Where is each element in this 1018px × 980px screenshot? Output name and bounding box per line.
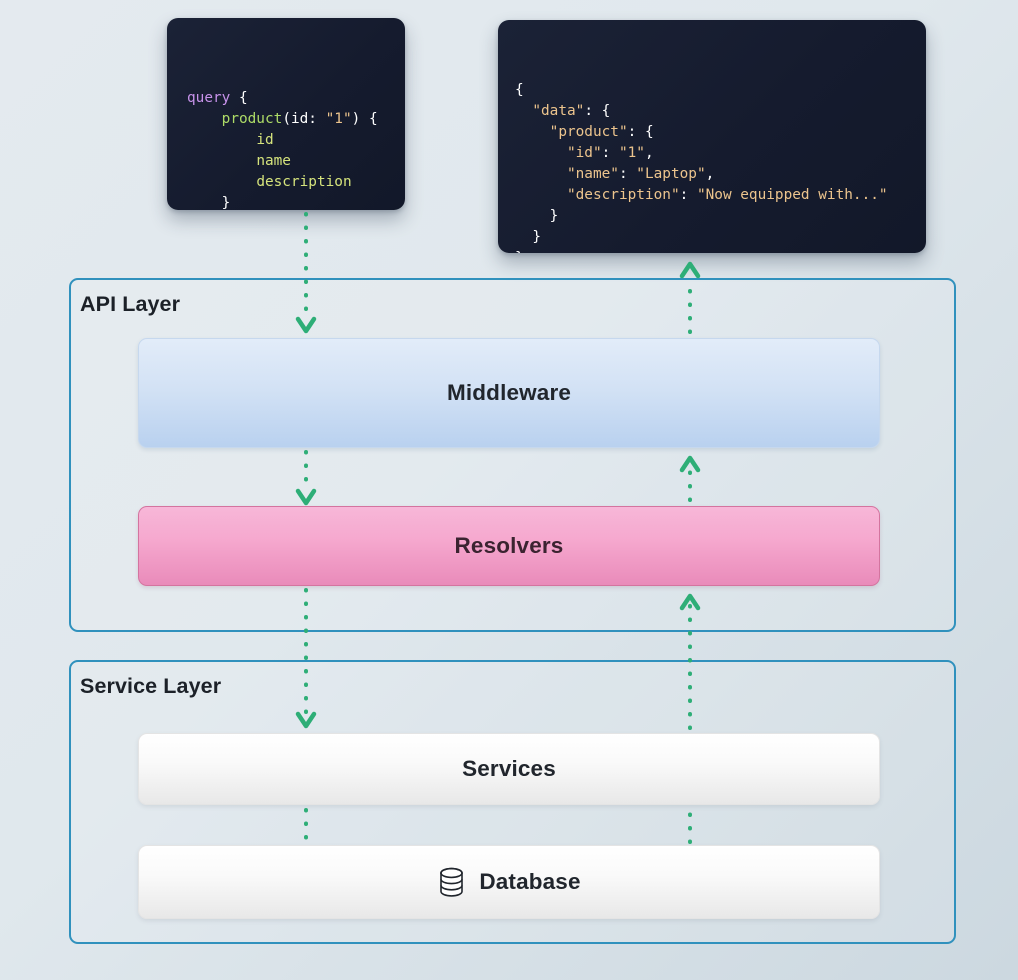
service-layer-title: Service Layer <box>80 674 221 699</box>
api-layer-title: API Layer <box>80 292 180 317</box>
node-resolvers-label: Resolvers <box>455 533 564 559</box>
code-line: } <box>515 248 926 253</box>
arrowhead-up-response <box>682 264 698 276</box>
code-line: query { <box>187 88 405 109</box>
graphql-query-card: query { product(id: "1") { id name descr… <box>167 18 405 210</box>
code-line: { <box>515 80 926 101</box>
code-line: "description": "Now equipped with..." <box>515 185 926 206</box>
response-code: { "data": { "product": { "id": "1", "nam… <box>515 80 926 253</box>
code-line: "data": { <box>515 101 926 122</box>
code-line: name <box>187 151 405 172</box>
code-line: description <box>187 172 405 193</box>
code-line: "name": "Laptop", <box>515 164 926 185</box>
node-middleware-label: Middleware <box>447 380 571 406</box>
node-services[interactable]: Services <box>138 733 880 805</box>
node-database[interactable]: Database <box>138 845 880 919</box>
node-services-label: Services <box>462 756 556 782</box>
query-code: query { product(id: "1") { id name descr… <box>187 88 405 210</box>
graphql-response-card: { "data": { "product": { "id": "1", "nam… <box>498 20 926 253</box>
code-line: "id": "1", <box>515 143 926 164</box>
diagram-canvas: query { product(id: "1") { id name descr… <box>0 0 1018 980</box>
code-line: } <box>515 206 926 227</box>
code-line: "product": { <box>515 122 926 143</box>
database-icon <box>437 867 466 898</box>
node-middleware[interactable]: Middleware <box>138 338 880 448</box>
code-line: } <box>187 193 405 210</box>
code-line: product(id: "1") { <box>187 109 405 130</box>
node-database-label: Database <box>479 869 580 895</box>
code-line: } <box>515 227 926 248</box>
code-line: id <box>187 130 405 151</box>
node-resolvers[interactable]: Resolvers <box>138 506 880 586</box>
